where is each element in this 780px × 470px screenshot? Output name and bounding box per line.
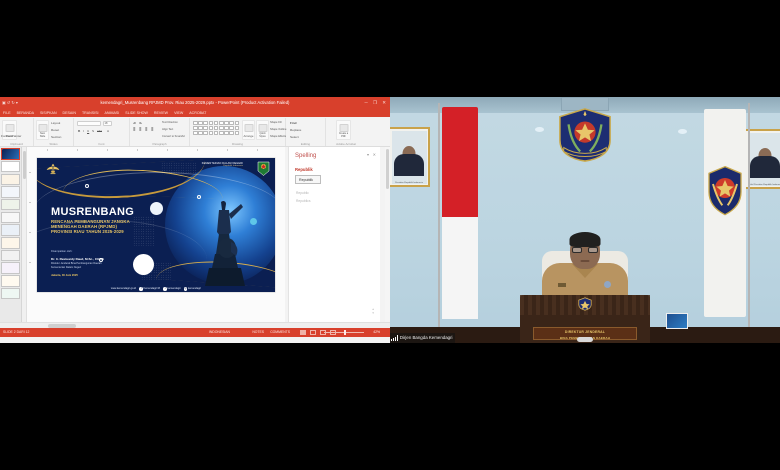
clipboard-group-label: Clipboard <box>0 142 33 146</box>
circle-accent-large <box>133 254 154 275</box>
ceiling-light <box>535 127 544 132</box>
underline-button[interactable]: U <box>87 129 89 133</box>
new-slide-icon <box>38 124 47 132</box>
slide-thumbnail[interactable]: 1 <box>1 148 20 160</box>
dot-grid-left <box>133 216 155 246</box>
shadow-button[interactable]: S <box>92 129 94 133</box>
speaker-head <box>570 233 600 269</box>
slide-thumbnail[interactable] <box>1 237 20 249</box>
powerpoint-window: ▣ ↺ ↻ ▾ kemendagri_Musrenbang RPJMD Prov… <box>0 97 390 343</box>
portrait-body <box>394 154 424 176</box>
ribbon-body: Paste Format Painter Clipboard New Slide… <box>0 117 390 147</box>
thumbnail-number: 1 <box>2 149 3 151</box>
slide-thumbnail[interactable] <box>1 199 20 211</box>
slide-main-title[interactable]: MUSRENBANG <box>51 206 134 218</box>
notes-button[interactable]: NOTES <box>252 330 264 334</box>
tab-acrobat[interactable]: ACROBAT <box>189 111 206 115</box>
monument-statue-graphic <box>201 200 247 286</box>
status-bar: SLIDE 2 DARI 12 INDONESIAN NOTES COMMENT… <box>0 328 390 337</box>
align-right-button[interactable]: ≣ <box>145 128 148 132</box>
shape-effects-button[interactable]: Shape Effects <box>270 135 286 138</box>
horizontal-ruler <box>27 147 285 152</box>
pane-scroll-hint: ▴▾ <box>372 307 374 315</box>
signal-strength-icon <box>391 335 398 341</box>
tab-view[interactable]: VIEW <box>174 111 183 115</box>
tab-animasi[interactable]: ANIMASI <box>105 111 120 115</box>
quick-styles-label: Quick Styles <box>257 132 268 138</box>
suggestion-item[interactable]: Republic <box>296 191 309 195</box>
font-size-value: 18 <box>105 122 108 125</box>
tab-beranda[interactable]: BERANDA <box>17 111 34 115</box>
italic-button[interactable]: I <box>83 129 84 133</box>
twitter-handle: kemendagri <box>168 287 181 290</box>
slide-thumbnail[interactable] <box>1 262 20 274</box>
paragraph-group-label: Paragraph <box>130 142 189 146</box>
align-center-button[interactable]: ≣ <box>139 128 142 132</box>
spelling-action-button[interactable]: Republik <box>295 175 321 184</box>
comments-button[interactable]: COMMENTS <box>270 330 290 334</box>
podium: DIREKTUR JENDERAL BINA PEMBANGUNAN DAERA… <box>520 295 650 343</box>
footer-url[interactable]: www.kemendagri.go.id <box>111 287 136 290</box>
slide-thumbnail-panel[interactable]: 1 <box>0 147 22 322</box>
slide-thumbnail[interactable] <box>1 275 20 287</box>
spelling-task-pane[interactable]: Spelling ▾ ✕ Republik Republik Republic … <box>288 147 380 322</box>
window-title-bar: ▣ ↺ ↻ ▾ kemendagri_Musrenbang RPJMD Prov… <box>0 97 390 108</box>
reset-button[interactable]: Reset <box>51 128 59 132</box>
twitter-icon[interactable]: t <box>163 287 167 291</box>
close-icon[interactable]: ✕ <box>373 152 376 157</box>
shape-outline-button[interactable]: Shape Outline <box>270 128 286 131</box>
indonesian-flag <box>442 107 478 319</box>
portrait-caption: Presiden Republik Indonesia <box>390 182 428 184</box>
ribbon-tab-strip[interactable]: FILE BERANDA SISIPKAN DESAIN TRANSISI AN… <box>0 108 390 117</box>
replace-button[interactable]: Replace <box>290 128 301 132</box>
flag-pole <box>438 103 440 331</box>
ribbon-group-drawing: Arrange Quick Styles Shape Fill Shape Ou… <box>190 118 286 146</box>
right-lens <box>588 247 598 253</box>
scrollbar-thumb[interactable] <box>23 151 26 179</box>
find-button[interactable]: Find <box>290 121 297 125</box>
quick-styles-icon <box>258 124 267 132</box>
ministry-flag-emblem-icon <box>705 164 745 217</box>
normal-view-button[interactable] <box>300 330 306 336</box>
portrait-image <box>392 131 427 184</box>
ministry-line-2: Republik Indonesia <box>202 165 243 168</box>
podium-line-1: DIREKTUR JENDERAL <box>565 330 605 334</box>
editing-group-label: Editing <box>286 142 325 146</box>
arrange-icon <box>244 124 253 132</box>
strikethrough-button[interactable]: abc <box>97 129 102 133</box>
arrange-label: Arrange <box>243 134 254 138</box>
pdf-icon <box>339 124 348 132</box>
slide-presenter-block[interactable]: Dr. Ir. Restuardy Daud, M.Sc., CGRS Dire… <box>51 258 104 270</box>
arrange-button[interactable]: Arrange <box>242 120 255 140</box>
riau-province-logo-icon <box>257 161 270 176</box>
participant-name: Dirjen Bangda Kemendagri <box>400 333 453 343</box>
mouth <box>581 260 590 262</box>
align-left-button[interactable]: ≣ <box>133 128 136 132</box>
tab-sisipkan[interactable]: SISIPKAN <box>40 111 57 115</box>
slide-date: Jakarta, 30 Juni 2025 <box>51 274 78 277</box>
president-portrait-frame: Presiden Republik Indonesia <box>390 127 430 187</box>
slide-subtitle[interactable]: RENCANA PEMBANGUNAN JANGKA MENENGAH DAER… <box>51 219 130 235</box>
tab-file[interactable]: FILE <box>3 111 11 115</box>
suggestion-item[interactable]: Republics <box>296 199 310 203</box>
text-direction-button[interactable]: Text Direction <box>162 121 178 124</box>
slide-thumbnail[interactable] <box>1 288 20 300</box>
slide-subtitle-line-3: PROVINSI RIAU TAHUN 2025-2029 <box>51 229 130 234</box>
slide-footer: www.kemendagri.go.id fKemendagri RI tkem… <box>37 287 275 290</box>
spelling-pane-title: Spelling <box>295 153 316 159</box>
slide-thumbnail[interactable] <box>1 161 20 173</box>
paste-icon <box>5 124 14 132</box>
speaker-hair <box>570 232 601 247</box>
slide-editing-surface[interactable]: KEMENTERIAN DALAM NEGERI Republik Indone… <box>37 158 275 292</box>
quick-styles-button[interactable]: Quick Styles <box>256 120 269 140</box>
garuda-emblem-icon <box>46 163 60 175</box>
slide-thumbnail[interactable] <box>1 174 20 186</box>
screenshot-root: ▣ ↺ ↻ ▾ kemendagri_Musrenbang RPJMD Prov… <box>0 0 780 470</box>
select-button[interactable]: Select <box>290 135 299 139</box>
facebook-handle: Kemendagri RI <box>143 287 160 290</box>
presenter-role-2: Kementerian Dalam Negeri <box>51 266 104 270</box>
ribbon-group-slides: New Slide Layout Reset Section Slides <box>34 118 74 146</box>
zoom-percentage[interactable]: 42% <box>373 330 380 334</box>
tab-transisi[interactable]: TRANSISI <box>82 111 99 115</box>
flag-red-band <box>442 107 478 217</box>
tab-desain[interactable]: DESAIN <box>63 111 76 115</box>
align-text-button[interactable]: Align Text <box>162 128 173 131</box>
circle-outline-1 <box>197 195 201 199</box>
convert-smartart-button[interactable]: Convert to SmartArt <box>162 135 185 138</box>
new-slide-label: New Slide <box>37 132 48 138</box>
quick-access-toolbar[interactable]: ▣ ↺ ↻ ▾ <box>2 97 18 108</box>
ribbon-group-acrobat: Create a PDF Adobe Acrobat <box>326 118 366 146</box>
slide-canvas[interactable]: KEMENTERIAN DALAM NEGERI Republik Indone… <box>27 147 285 322</box>
slide-thumbnail[interactable] <box>1 212 20 224</box>
language-indicator[interactable]: INDONESIAN <box>209 330 230 334</box>
ministry-flag <box>704 109 746 317</box>
create-pdf-label: Create a PDF <box>337 132 350 138</box>
circle-accent-med <box>150 202 163 215</box>
ministry-logo-text: KEMENTERIAN DALAM NEGERI Republik Indone… <box>202 162 243 168</box>
create-pdf-button[interactable]: Create a PDF <box>336 120 351 140</box>
slide-thumbnail[interactable] <box>1 224 20 236</box>
instagram-icon[interactable]: ◎ <box>184 287 188 291</box>
flag-white-band <box>442 217 478 319</box>
video-conference-feed[interactable]: Presiden Republik Indonesia Wakil Presid… <box>390 97 780 343</box>
participant-name-bar: Dirjen Bangda Kemendagri <box>390 333 455 343</box>
podium-crest-icon <box>577 297 593 311</box>
ribbon-group-paragraph: ≔ ≕ ≣ ≣ ≣ ≣ Text Direction Align Text Co… <box>130 118 190 146</box>
slides-group-label: Slides <box>34 142 73 146</box>
flagged-word: Republik <box>295 167 313 172</box>
ministry-wall-emblem-icon <box>556 107 614 163</box>
microphone <box>577 337 593 342</box>
ribbon-group-clipboard: Paste Format Painter Clipboard <box>0 118 34 146</box>
window-controls[interactable]: ─ ❐ ✕ <box>365 97 389 108</box>
instagram-handle: kemendagri <box>188 287 201 290</box>
shape-gallery[interactable] <box>193 121 239 135</box>
dot-grid-gold <box>161 162 197 175</box>
zoom-slider-knob[interactable] <box>344 330 346 335</box>
circle-outline-2 <box>85 184 89 188</box>
section-button[interactable]: Section <box>51 135 61 139</box>
ribbon-group-editing: Find Replace Select Editing <box>286 118 326 146</box>
portrait-image <box>748 133 780 186</box>
chevron-down-icon[interactable]: ▾ <box>367 152 369 157</box>
bold-button[interactable]: B <box>78 129 80 133</box>
slide-thumbnail[interactable] <box>1 250 20 262</box>
new-slide-button[interactable]: New Slide <box>36 120 49 140</box>
vertical-ruler <box>27 147 32 322</box>
left-lens <box>572 247 582 253</box>
slide-thumbnail[interactable] <box>1 186 20 198</box>
drawing-group-label: Drawing <box>190 142 285 146</box>
font-group-label: Font <box>74 142 129 146</box>
bullets-button[interactable]: ≔ <box>133 121 136 125</box>
slide-presenter-label: Disampaikan oleh: <box>51 250 72 253</box>
ministry-flag-pole <box>748 103 750 329</box>
numbering-button[interactable]: ≕ <box>139 121 142 125</box>
tab-slide-show[interactable]: SLIDE SHOW <box>125 111 148 115</box>
uniform-badge <box>558 283 566 287</box>
justify-button[interactable]: ≣ <box>151 128 154 132</box>
portrait-body <box>750 156 780 178</box>
ceiling-light <box>678 129 687 134</box>
format-painter-button[interactable]: Format Painter <box>1 134 21 138</box>
ribbon-group-font: 18 B I U S abc A Font <box>74 118 130 146</box>
portrait-caption: Wakil Presiden Republik Indonesia <box>746 184 780 186</box>
font-color-button[interactable]: A <box>107 129 109 133</box>
shape-fill-button[interactable]: Shape Fill <box>270 121 282 124</box>
window-title-text: kemendagri_Musrenbang RPJMD Prov. Riau 2… <box>101 100 290 105</box>
layout-button[interactable]: Layout <box>51 121 60 125</box>
slide-indicator: SLIDE 2 DARI 12 <box>3 330 29 334</box>
circle-accent-small <box>250 218 257 225</box>
uniform-insignia <box>604 281 611 288</box>
desk-book <box>666 313 688 329</box>
font-name-box[interactable] <box>77 121 101 126</box>
eyeglasses <box>572 247 598 253</box>
scrollbar-thumb[interactable] <box>386 149 389 189</box>
tab-review[interactable]: REVIEW <box>154 111 168 115</box>
acrobat-group-label: Adobe Acrobat <box>326 142 366 146</box>
slide-sorter-view-button[interactable] <box>310 330 316 336</box>
